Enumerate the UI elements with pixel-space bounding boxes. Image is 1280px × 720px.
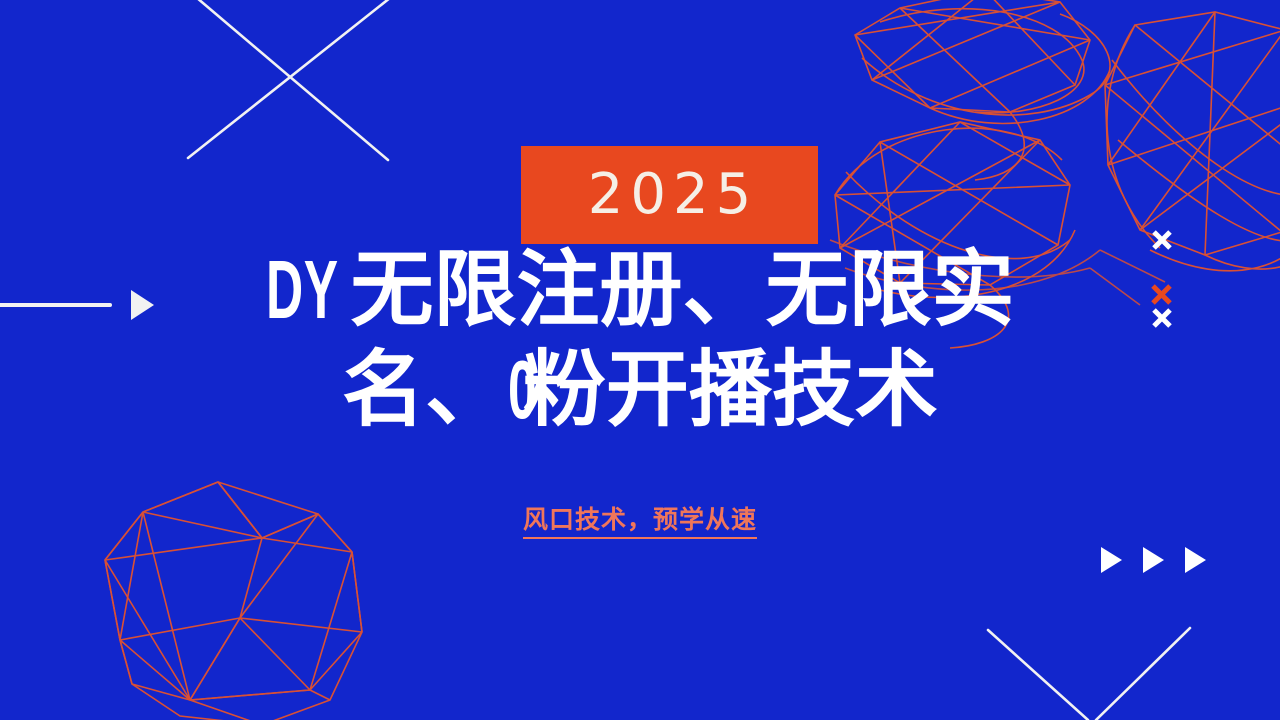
headline-cjk-2a: 名、 — [342, 341, 508, 438]
headline-latin-zero: 0 — [508, 348, 537, 431]
year-badge: 2025 — [521, 146, 818, 244]
headline-line-1: DY无限注册、无限实 — [0, 248, 1280, 331]
headline-cjk-2b: 粉开播技术 — [523, 341, 938, 438]
headline-line-2: 名、0粉开播技术 — [0, 348, 1280, 431]
wireframe-polyhedron-icon — [1105, 12, 1280, 271]
subtitle: 风口技术，预学从速 — [0, 500, 1280, 536]
wireframe-polyhedron-icon — [855, 0, 1110, 180]
x-cross-icon — [188, 0, 400, 160]
page-title: DY无限注册、无限实 名、0粉开播技术 — [0, 248, 1280, 431]
x-mark-white — [1154, 232, 1170, 248]
headline-cjk-1: 无限注册、无限实 — [350, 241, 1014, 338]
chevron-down-icon — [988, 628, 1190, 720]
headline-latin-dy: DY — [266, 248, 339, 331]
poster-canvas: 2025 DY无限注册、无限实 名、0粉开播技术 风口技术，预学从速 — [0, 0, 1280, 720]
subtitle-label: 风口技术，预学从速 — [523, 505, 757, 539]
play-triangle-icon — [1101, 547, 1206, 573]
year-label: 2025 — [581, 167, 759, 223]
